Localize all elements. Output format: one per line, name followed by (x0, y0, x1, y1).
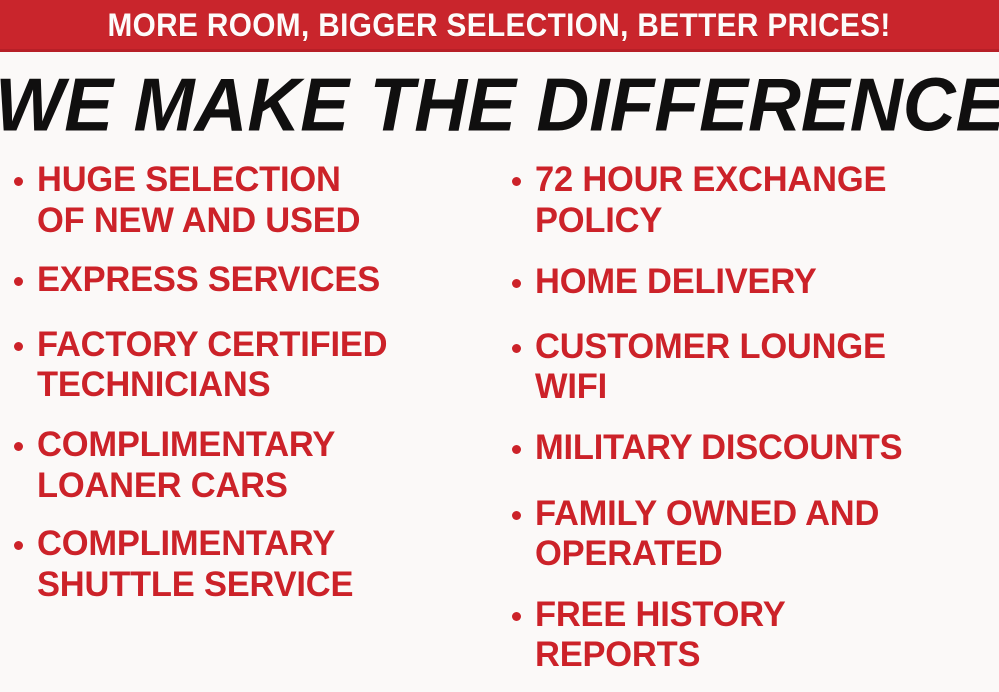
promo-banner: MORE ROOM, BIGGER SELECTION, BETTER PRIC… (0, 0, 999, 52)
list-item-label: HOME DELIVERY (535, 262, 992, 303)
bullet-dot-icon (512, 177, 521, 186)
list-item: FAMILY OWNED AND OPERATED (512, 494, 999, 575)
bullet-dot-icon (14, 442, 23, 451)
list-item: FREE HISTORY REPORTS (512, 595, 999, 676)
list-item-label: 72 HOUR EXCHANGE POLICY (535, 160, 992, 241)
bullet-dot-icon (14, 177, 23, 186)
list-item: 72 HOUR EXCHANGE POLICY (512, 160, 999, 241)
headline-container: WE MAKE THE DIFFERENCE (0, 62, 999, 148)
list-item: COMPLIMENTARY SHUTTLE SERVICE (14, 524, 500, 605)
page-title: WE MAKE THE DIFFERENCE (0, 67, 999, 142)
list-item: HUGE SELECTION OF NEW AND USED (14, 160, 500, 241)
bullet-dot-icon (512, 344, 521, 353)
list-item: HOME DELIVERY (512, 262, 999, 303)
list-item-label: EXPRESS SERVICES (37, 260, 493, 301)
list-item-label: COMPLIMENTARY SHUTTLE SERVICE (37, 524, 493, 605)
bullet-dot-icon (14, 342, 23, 351)
list-item-label: FAMILY OWNED AND OPERATED (535, 494, 992, 575)
list-item: MILITARY DISCOUNTS (512, 428, 999, 469)
bullet-dot-icon (512, 279, 521, 288)
list-item: FACTORY CERTIFIED TECHNICIANS (14, 325, 500, 406)
bullet-dot-icon (14, 541, 23, 550)
list-item-label: CUSTOMER LOUNGE WIFI (535, 327, 992, 408)
list-item: COMPLIMENTARY LOANER CARS (14, 425, 500, 506)
list-item-label: HUGE SELECTION OF NEW AND USED (37, 160, 493, 241)
promo-banner-text: MORE ROOM, BIGGER SELECTION, BETTER PRIC… (108, 9, 891, 41)
benefits-column-left: HUGE SELECTION OF NEW AND USED EXPRESS S… (14, 160, 500, 630)
bullet-dot-icon (14, 277, 23, 286)
bullet-dot-icon (512, 612, 521, 621)
list-item-label: FACTORY CERTIFIED TECHNICIANS (37, 325, 493, 406)
list-item-label: COMPLIMENTARY LOANER CARS (37, 425, 493, 506)
list-item-label: FREE HISTORY REPORTS (535, 595, 992, 676)
bullet-dot-icon (512, 445, 521, 454)
list-item: CUSTOMER LOUNGE WIFI (512, 327, 999, 408)
list-item: EXPRESS SERVICES (14, 260, 500, 301)
list-item-label: MILITARY DISCOUNTS (535, 428, 992, 469)
benefits-column-right: 72 HOUR EXCHANGE POLICY HOME DELIVERY CU… (512, 160, 999, 676)
benefits-columns: HUGE SELECTION OF NEW AND USED EXPRESS S… (0, 160, 999, 692)
bullet-dot-icon (512, 511, 521, 520)
